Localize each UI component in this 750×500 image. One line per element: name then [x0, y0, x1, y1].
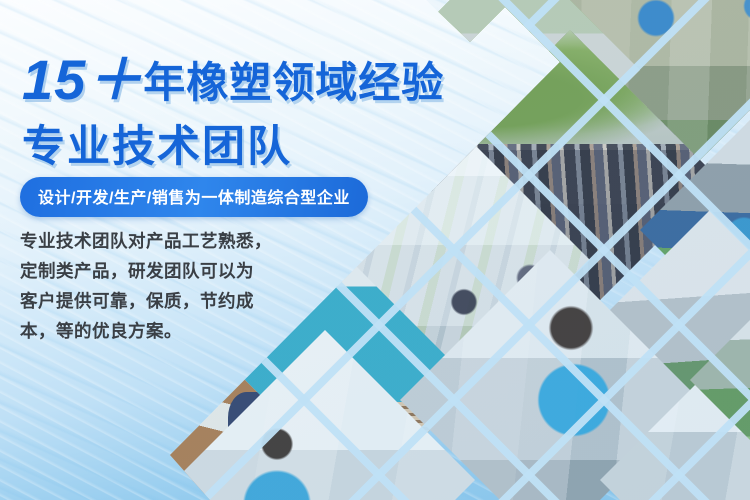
years-number: 15＋: [22, 48, 143, 111]
body-copy-line: 定制类产品，研发团队可以为: [20, 256, 280, 286]
body-copy-line: 客户提供可靠，保质，节约成: [20, 286, 280, 316]
tagline-pill: 设计/开发/生产/销售为一体制造综合型企业: [20, 177, 368, 217]
promo-banner: 15＋年橡塑领域经验 专业技术团队 设计/开发/生产/销售为一体制造综合型企业 …: [0, 0, 750, 500]
headline-line-1-suffix: 年橡塑领域经验: [143, 59, 444, 106]
headline-line-1: 15＋年橡塑领域经验: [22, 52, 462, 108]
headline-line-2: 专业技术团队: [22, 112, 292, 174]
headline-line-2-text: 专业技术团队: [22, 123, 292, 171]
body-copy: 专业技术团队对产品工艺熟悉， 定制类产品，研发团队可以为 客户提供可靠，保质，节…: [20, 226, 280, 346]
text-panel: 15＋年橡塑领域经验 专业技术团队 设计/开发/生产/销售为一体制造综合型企业 …: [0, 0, 470, 500]
body-copy-line: 本，等的优良方案。: [20, 316, 280, 346]
body-copy-line: 专业技术团队对产品工艺熟悉，: [20, 226, 280, 256]
